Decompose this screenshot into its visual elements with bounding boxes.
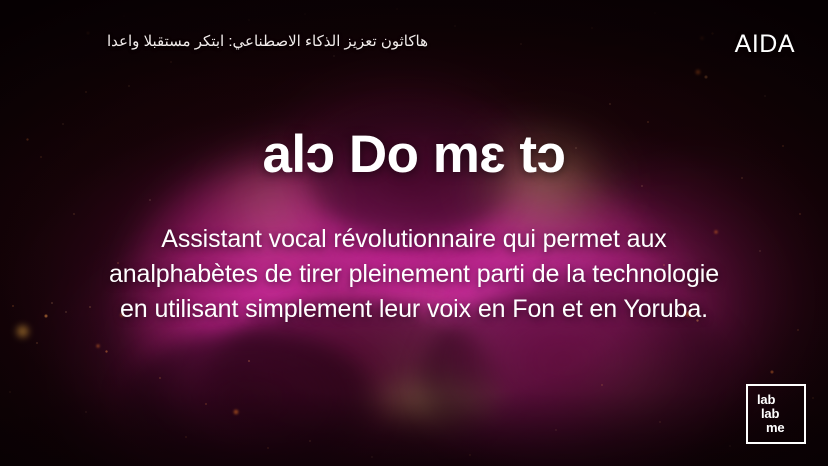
- lablab-me-logo: lab lab me: [746, 384, 806, 444]
- tagline-line-1: Assistant vocal révolutionnaire qui perm…: [64, 222, 764, 257]
- project-title: alɔ Do mɛ tɔ: [0, 124, 828, 186]
- aida-brand-logo: AIDA: [735, 30, 795, 59]
- slide-content: هاكاثون تعزيز الذكاء الاصطناعي: ابتكر مس…: [0, 0, 828, 466]
- hackathon-title-arabic: هاكاثون تعزيز الذكاء الاصطناعي: ابتكر مس…: [28, 32, 428, 52]
- project-tagline: Assistant vocal révolutionnaire qui perm…: [64, 222, 764, 327]
- lablab-logo-line-2: lab: [757, 407, 804, 421]
- lablab-logo-line-1: lab: [757, 393, 804, 407]
- tagline-line-2: analphabètes de tirer pleinement parti d…: [64, 257, 764, 292]
- tagline-line-3: en utilisant simplement leur voix en Fon…: [64, 292, 764, 327]
- lablab-logo-line-3: me: [757, 421, 804, 435]
- presentation-slide: هاكاثون تعزيز الذكاء الاصطناعي: ابتكر مس…: [0, 0, 828, 466]
